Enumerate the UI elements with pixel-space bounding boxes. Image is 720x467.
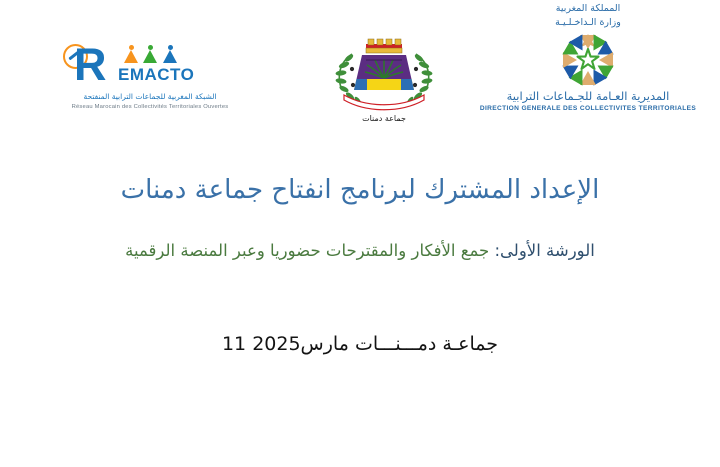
dgct-arabic-title: المديرية العـامة للجـماعات الترابية — [466, 89, 710, 104]
commune-caption: جماعة دمنات — [322, 114, 446, 123]
person-blue-icon — [163, 45, 178, 63]
slide-title: الإعداد المشترك لبرنامج انفتاح جماعة دمن… — [0, 170, 720, 210]
footer-place: جماعـة دمـــنـــات — [355, 333, 498, 355]
remacto-wordmark: EMACTO — [118, 65, 194, 85]
presentation-slide: R EMACTO الشبكة المغربية للجماعات التراب… — [0, 0, 720, 467]
footer-date: 11 مارس2025 — [222, 333, 349, 355]
remacto-arabic-tagline: الشبكة المغربية للجماعات الترابية المنفت… — [52, 92, 248, 102]
kingdom-line-1: المملكة المغربية — [466, 2, 710, 16]
remacto-letter-r: R — [74, 46, 105, 84]
commune-demnate-emblem-icon — [322, 38, 446, 112]
kingdom-heading: المملكة المغربية وزارة الـداخـلـيـة — [466, 2, 710, 30]
slide-footer: جماعـة دمـــنـــات 11 مارس2025 — [0, 328, 720, 360]
person-orange-icon — [124, 45, 139, 63]
remacto-logo: R EMACTO الشبكة المغربية للجماعات التراب… — [52, 44, 248, 112]
subtitle-lead: الورشة الأولى: — [494, 241, 594, 260]
commune-logo: جماعة دمنات — [322, 38, 446, 123]
dgct-logo: المملكة المغربية وزارة الـداخـلـيـة — [466, 2, 710, 113]
people-icon — [124, 45, 180, 65]
dgct-french-title: DIRECTION GENERALE DES COLLECTIVITES TER… — [466, 104, 710, 113]
logo-band: R EMACTO الشبكة المغربية للجماعات التراب… — [0, 0, 720, 140]
subtitle-rest: جمع الأفكار والمقترحات حضوريا وعبر المنص… — [125, 241, 489, 260]
slide-subtitle: الورشة الأولى: جمع الأفكار والمقترحات حض… — [0, 236, 720, 266]
remacto-logo-mark: R EMACTO — [52, 44, 248, 86]
dgct-star-icon — [533, 32, 643, 88]
remacto-french-tagline: Réseau Marocain des Collectivités Territ… — [52, 103, 248, 112]
kingdom-line-2: وزارة الـداخـلـيـة — [466, 16, 710, 30]
person-green-icon — [143, 45, 158, 63]
